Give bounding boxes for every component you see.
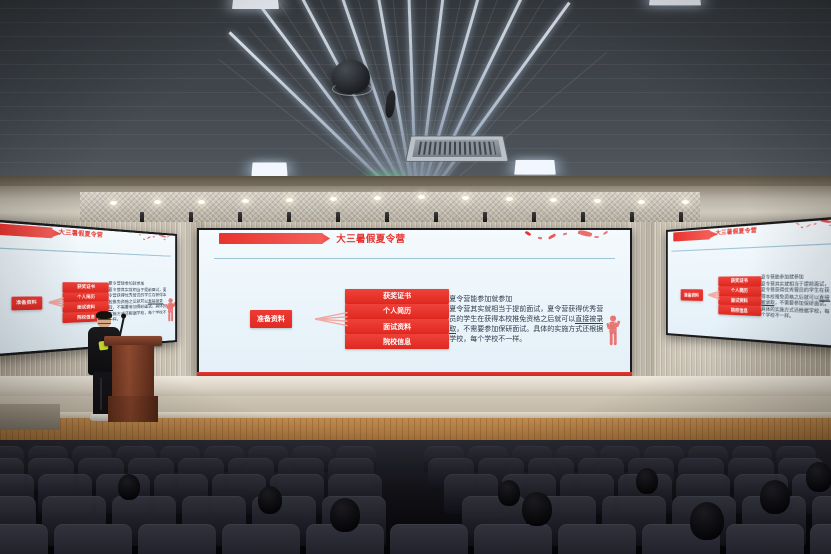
flourish-mark <box>164 239 167 241</box>
flourish-mark <box>801 227 804 229</box>
audience-head <box>690 502 724 540</box>
recessed-downlight <box>550 198 557 202</box>
audience-head <box>258 486 282 514</box>
root-node[interactable]: 准备资料 <box>680 290 702 301</box>
slide-title: 大三暑假夏令营 <box>58 227 103 239</box>
audience-seat <box>222 524 300 554</box>
presenter-hair <box>96 311 112 319</box>
recessed-downlight <box>374 196 381 200</box>
audience-head <box>806 462 831 492</box>
root-node[interactable]: 准备资料 <box>11 297 42 310</box>
audience-head <box>118 474 140 500</box>
slide-item-chip[interactable]: 获奖证书 <box>63 282 109 292</box>
connector-lines <box>315 310 348 328</box>
flourish-mark <box>547 234 555 240</box>
flourish-mark <box>153 236 155 237</box>
slide-paragraph: 夏令营能参加就参加 <box>449 294 606 304</box>
perforated-metal-panel <box>80 192 700 222</box>
underlined-phrase: 直接被录取 <box>761 294 830 307</box>
audience-head <box>760 480 790 514</box>
flourish-mark <box>821 219 831 224</box>
podium <box>108 336 158 422</box>
ceiling-panel-light <box>251 162 287 176</box>
audience-seat <box>558 524 636 554</box>
person-illustration-icon <box>165 297 176 322</box>
title-banner-shape <box>219 233 323 245</box>
flourish-decoration-icon <box>792 218 831 234</box>
flourish-mark <box>525 230 532 236</box>
slide-item-chip[interactable]: 个人简历 <box>719 286 761 296</box>
audience-seat <box>726 524 804 554</box>
recessed-downlight <box>638 200 645 204</box>
ceiling-panel-light <box>232 0 279 9</box>
slide-header: 大三暑假夏令营 <box>197 228 632 262</box>
recessed-downlight <box>594 199 601 203</box>
audience-seating-area <box>0 440 831 554</box>
flourish-mark <box>138 233 142 237</box>
header-divider <box>214 258 614 259</box>
flourish-decoration-icon <box>519 230 615 245</box>
dome-speaker-ring <box>332 82 372 96</box>
audience-seat <box>810 524 831 554</box>
item-column: 获奖证书个人简历面试资料院校信息 <box>719 276 761 316</box>
slide-item-chip[interactable]: 面试资料 <box>345 319 449 334</box>
audience-seat <box>390 524 468 554</box>
ceiling-panel-light <box>649 0 701 5</box>
slide-title: 大三暑假夏令营 <box>715 226 757 238</box>
stage-steps <box>0 404 60 430</box>
ceiling <box>0 0 831 205</box>
recessed-downlight <box>462 196 469 200</box>
audience-head <box>522 492 552 526</box>
recessed-downlight <box>506 197 513 201</box>
recessed-downlight <box>286 198 293 202</box>
side-led-panel-right[interactable]: 大三暑假夏令营准备资料获奖证书个人简历面试资料院校信息夏令营能参加就参加夏令营其… <box>666 216 831 349</box>
slide-item-chip[interactable]: 获奖证书 <box>719 276 761 286</box>
flourish-mark <box>167 236 169 238</box>
root-node[interactable]: 准备资料 <box>250 310 292 328</box>
flourish-mark <box>578 229 593 238</box>
flourish-mark <box>158 234 166 239</box>
slide-body: 准备资料获奖证书个人简历面试资料院校信息夏令营能参加就参加夏令营其实就相当于提前… <box>666 246 831 349</box>
audience-seat <box>54 524 132 554</box>
slide-main: 大三暑假夏令营准备资料获奖证书个人简历面试资料院校信息夏令营能参加就参加夏令营其… <box>197 228 632 376</box>
item-column: 获奖证书个人简历面试资料院校信息 <box>345 289 449 350</box>
audience-seat <box>474 524 552 554</box>
audience-head <box>330 498 360 532</box>
root-column: 准备资料 <box>666 289 719 301</box>
flourish-mark <box>538 236 542 239</box>
paragraph-column: 夏令营能参加就参加夏令营其实就相当于提前面试，夏令营获得优秀营员的学生在获得本校… <box>449 294 632 345</box>
slide-right: 大三暑假夏令营准备资料获奖证书个人简历面试资料院校信息夏令营能参加就参加夏令营其… <box>666 216 831 349</box>
lecture-hall-photo: ← 安全出口 大三暑假夏令营准备资料获奖证书个人简历面试资料院校信息夏令营能参加… <box>0 0 831 554</box>
flourish-mark <box>147 236 152 239</box>
recessed-downlight <box>198 200 205 204</box>
connector-lines <box>49 296 64 309</box>
flourish-decoration-icon <box>136 232 171 246</box>
recessed-downlight <box>242 199 249 203</box>
recessed-downlight <box>418 195 425 199</box>
podium-base <box>108 396 158 422</box>
audience-head <box>636 468 658 494</box>
ceiling-panel-light <box>514 160 556 175</box>
flourish-mark <box>806 224 812 228</box>
person-illustration-icon <box>597 314 630 346</box>
paragraph-column: 夏令营能参加就参加夏令营其实就相当于提前面试，夏令营获得优秀营员的学生在获得本校… <box>761 273 831 322</box>
slide-item-chip[interactable]: 个人简历 <box>345 304 449 319</box>
slide-paragraph: 夏令营其实就相当于提前面试，夏令营获得优秀营员的学生在获得本校推免资格之后就可以… <box>449 304 606 345</box>
slide-body: 准备资料获奖证书个人简历面试资料院校信息夏令营能参加就参加夏令营其实就相当于提前… <box>197 262 632 376</box>
ac-vent-icon <box>405 136 509 162</box>
flourish-mark <box>563 233 567 235</box>
underlined-phrase: 直接被录取 <box>449 315 603 334</box>
root-column: 准备资料 <box>197 310 345 328</box>
slide-item-chip[interactable]: 获奖证书 <box>345 289 449 304</box>
underlined-phrase: 直接被录取 <box>108 298 162 312</box>
flourish-mark <box>603 231 608 235</box>
audience-head <box>498 480 520 506</box>
audience-seat <box>138 524 216 554</box>
glasses-icon <box>98 319 111 324</box>
slide-title: 大三暑假夏令营 <box>336 231 405 245</box>
flourish-mark <box>593 236 599 239</box>
title-banner-shape <box>673 230 710 241</box>
connector-lines <box>708 290 720 301</box>
flourish-mark <box>795 222 800 226</box>
main-led-wall[interactable]: 大三暑假夏令营准备资料获奖证书个人简历面试资料院校信息夏令营能参加就参加夏令营其… <box>197 228 632 376</box>
root-column: 准备资料 <box>0 296 63 310</box>
flourish-mark <box>813 223 816 225</box>
slide-item-chip[interactable]: 院校信息 <box>719 305 761 316</box>
audience-seat <box>0 524 48 554</box>
slide-paragraph: 夏令营其实就相当于提前面试，夏令营获得优秀营员的学生在获得本校推免资格之后就可以… <box>761 280 831 322</box>
podium-body <box>112 345 154 397</box>
slide-item-chip[interactable]: 院校信息 <box>345 334 449 349</box>
flourish-mark <box>143 238 145 240</box>
recessed-downlight <box>330 197 337 201</box>
title-banner-shape <box>0 224 52 238</box>
